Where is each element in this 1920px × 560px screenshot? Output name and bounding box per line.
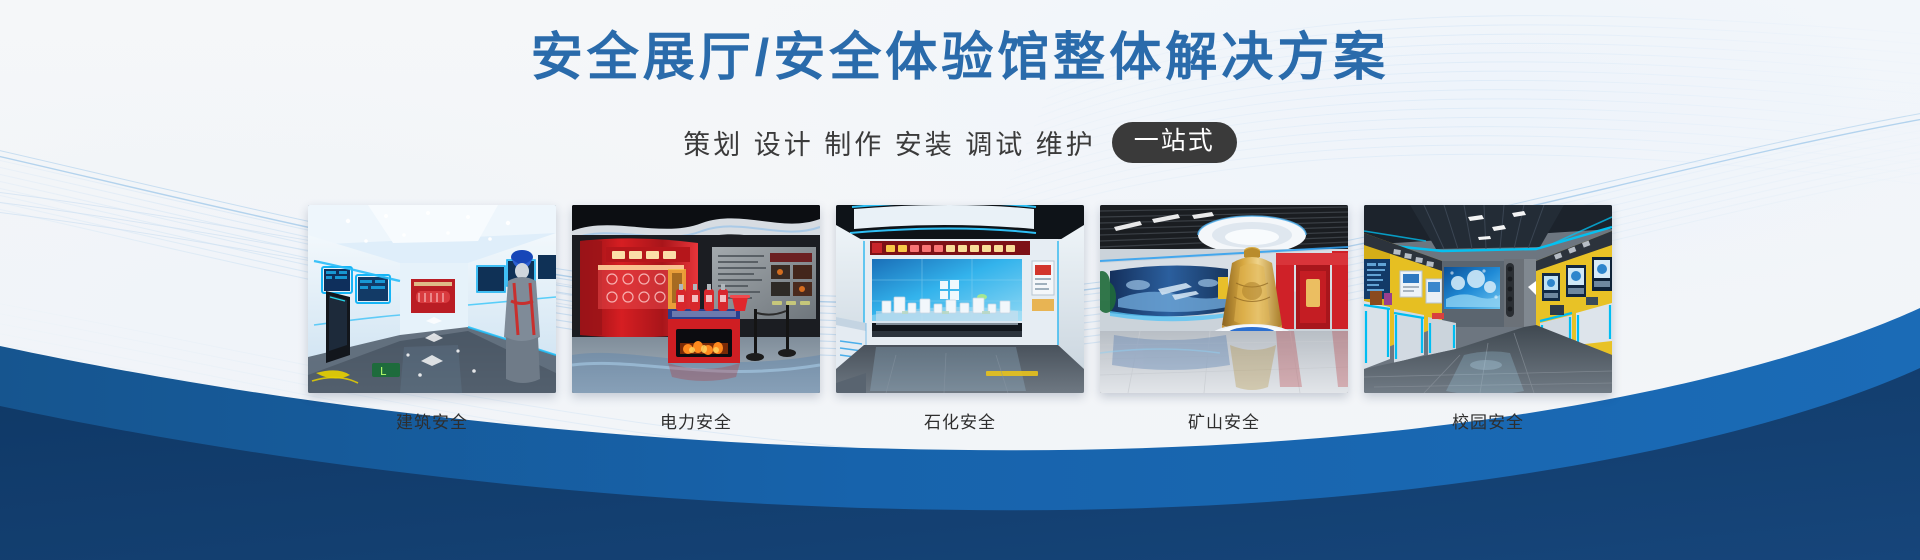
power-safety-image xyxy=(572,205,820,393)
card-thumbnail-campus-safety[interactable] xyxy=(1364,205,1612,393)
card-caption: 校园安全 xyxy=(1452,408,1524,433)
card-caption: 电力安全 xyxy=(660,408,732,433)
svg-text:L: L xyxy=(380,365,387,378)
mine-safety-image xyxy=(1100,205,1348,393)
banner-content: 安全展厅/安全体验馆整体解决方案 策划 设计 制作 安装 调试 维护 一站式 xyxy=(0,0,1920,560)
exhibition-card[interactable]: 校园安全 xyxy=(1364,205,1612,433)
card-thumbnail-power-safety[interactable] xyxy=(572,205,820,393)
card-thumbnail-petrochemical-safety[interactable] xyxy=(836,205,1084,393)
page-title: 安全展厅/安全体验馆整体解决方案 xyxy=(0,26,1920,91)
card-thumbnail-mine-safety[interactable] xyxy=(1100,205,1348,393)
exhibition-card[interactable]: 矿山安全 xyxy=(1100,205,1348,433)
subtitle-row: 策划 设计 制作 安装 调试 维护 一站式 xyxy=(0,122,1920,163)
exhibition-card[interactable]: L 建筑安全 xyxy=(308,205,556,433)
card-caption: 石化安全 xyxy=(924,408,996,433)
card-caption: 矿山安全 xyxy=(1188,408,1260,433)
one-stop-badge: 一站式 xyxy=(1112,122,1237,163)
safety-exhibition-banner: 安全展厅/安全体验馆整体解决方案 策划 设计 制作 安装 调试 维护 一站式 xyxy=(0,0,1920,560)
construction-safety-image: L xyxy=(308,205,556,393)
petrochemical-safety-image xyxy=(836,205,1084,393)
exhibition-card-list: L 建筑安全 xyxy=(0,205,1920,433)
subtitle-services-text: 策划 设计 制作 安装 调试 维护 xyxy=(683,123,1096,162)
exhibition-card[interactable]: 石化安全 xyxy=(836,205,1084,433)
campus-safety-image xyxy=(1364,205,1612,393)
card-caption: 建筑安全 xyxy=(396,408,468,433)
exhibition-card[interactable]: 电力安全 xyxy=(572,205,820,433)
card-thumbnail-construction-safety[interactable]: L xyxy=(308,205,556,393)
